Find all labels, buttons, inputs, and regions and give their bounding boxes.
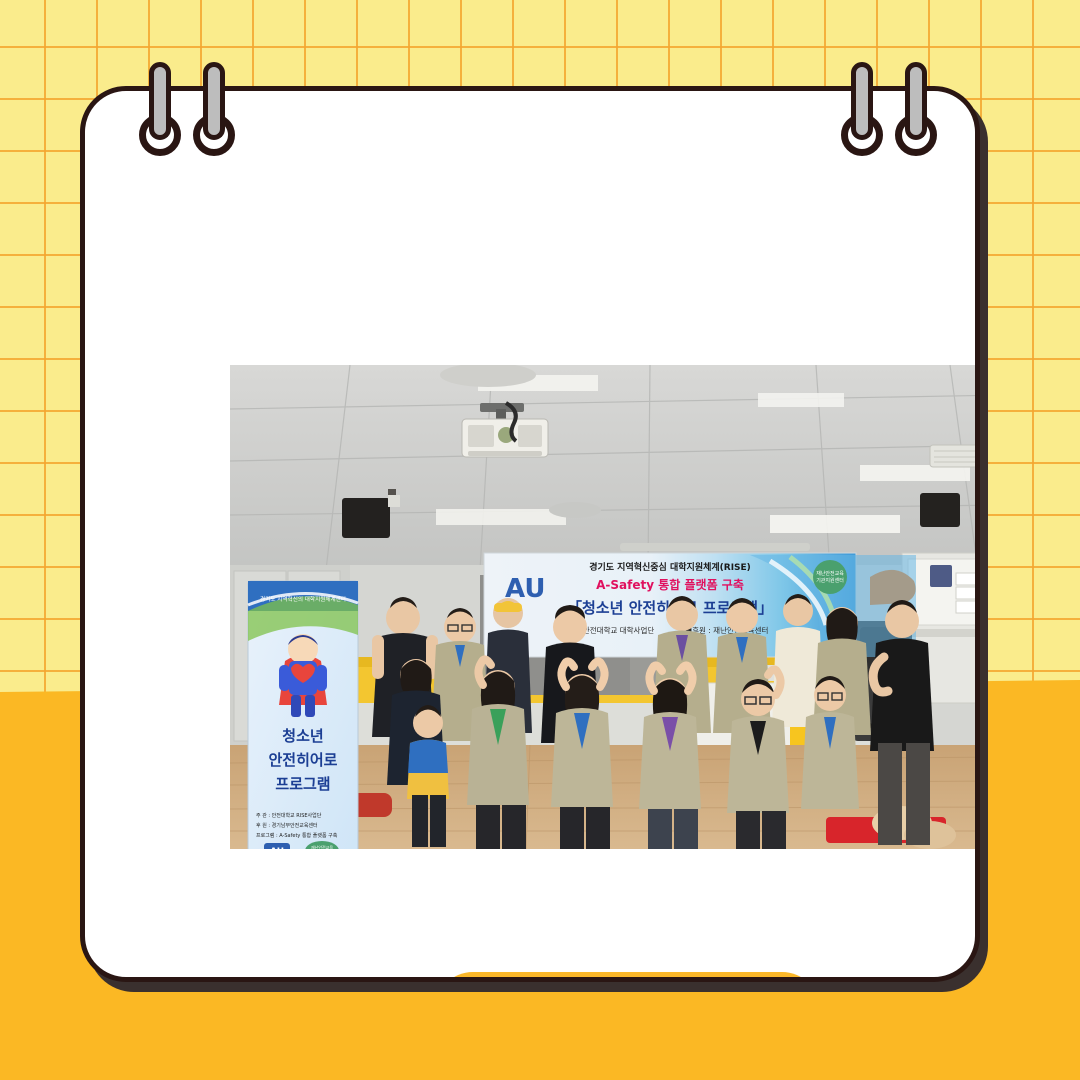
binder-ring-bar-front-icon <box>905 106 927 140</box>
svg-text:재난안전교육: 재난안전교육 <box>311 844 333 849</box>
notebook-card: 경기도 지역혁신중심 대학지원체계(RISE) A-Safety 통합 플랫폼 … <box>80 86 980 982</box>
standee-banner: 경기도 지역혁신의 대학지원체계센터 <box>248 581 358 849</box>
ceiling-speaker <box>342 498 390 538</box>
svg-text:재난안전교육: 재난안전교육 <box>816 570 844 577</box>
svg-text:기관지원센터: 기관지원센터 <box>816 577 844 584</box>
event-photo: 경기도 지역혁신중심 대학지원체계(RISE) A-Safety 통합 플랫폼 … <box>230 365 980 849</box>
svg-text:주 관 : 안전대학교 RISE사업단: 주 관 : 안전대학교 RISE사업단 <box>256 812 322 819</box>
disaster-safety-education-center-button[interactable]: 재난안전교육센터 <box>435 972 820 982</box>
binder-ring-bar-front-icon <box>149 106 171 140</box>
binder-ring-3 <box>838 62 886 166</box>
binder-ring-4 <box>892 62 940 166</box>
page-root: 경기도 지역혁신중심 대학지원체계(RISE) A-Safety 통합 플랫폼 … <box>0 0 1080 1080</box>
binder-ring-1 <box>136 62 184 166</box>
svg-text:프로그램 : A-Safety 통합 플랫폼 구축: 프로그램 : A-Safety 통합 플랫폼 구축 <box>256 832 338 839</box>
event-photo-image: 경기도 지역혁신중심 대학지원체계(RISE) A-Safety 통합 플랫폼 … <box>230 365 980 849</box>
binder-ring-bar-front-icon <box>851 106 873 140</box>
svg-text:안전히어로: 안전히어로 <box>268 751 337 769</box>
svg-text:A-Safety 통합 플랫폼 구축: A-Safety 통합 플랫폼 구축 <box>596 577 744 592</box>
svg-text:경기도 지역혁신의 대학지원체계센터: 경기도 지역혁신의 대학지원체계센터 <box>260 595 346 603</box>
binder-ring-2 <box>190 62 238 166</box>
svg-text:청소년: 청소년 <box>282 727 323 745</box>
svg-text:후 원 : 경기남부안전교육센터: 후 원 : 경기남부안전교육센터 <box>256 822 318 829</box>
svg-text:프로그램: 프로그램 <box>275 775 330 793</box>
svg-text:경기도 지역혁신중심 대학지원체계(RISE): 경기도 지역혁신중심 대학지원체계(RISE) <box>589 561 751 573</box>
binder-ring-bar-front-icon <box>203 106 225 140</box>
svg-text:AU: AU <box>270 847 284 849</box>
